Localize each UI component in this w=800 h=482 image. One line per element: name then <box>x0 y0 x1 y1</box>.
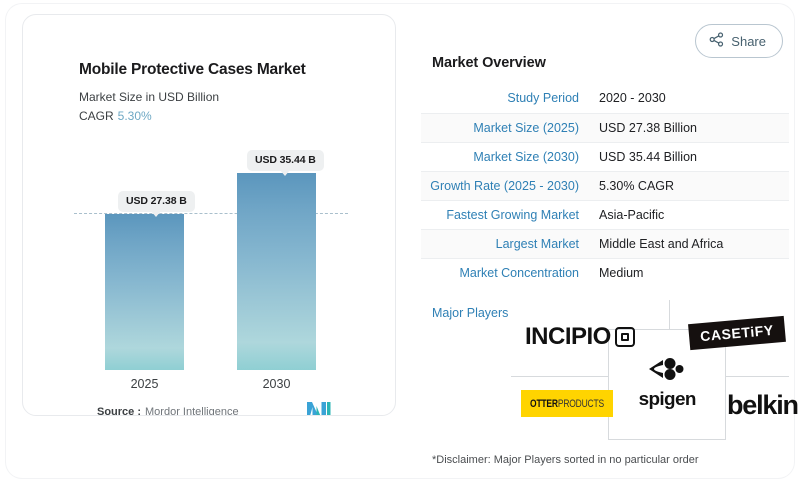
row-key: Largest Market <box>421 229 599 258</box>
mordor-intelligence-logo <box>307 402 331 416</box>
row-value: Middle East and Africa <box>599 229 789 258</box>
table-row: Market Size (2030) USD 35.44 Billion <box>421 142 789 171</box>
x-axis-tick-2025: 2025 <box>105 377 184 391</box>
row-key: Market Concentration <box>421 258 599 287</box>
otter-bold-text: OTTER <box>530 396 558 410</box>
row-value: USD 27.38 Billion <box>599 113 789 142</box>
spigen-logo: spigen <box>619 348 715 416</box>
row-key: Growth Rate (2025 - 2030) <box>421 171 599 200</box>
overview-title: Market Overview <box>432 55 546 71</box>
screenshot-root: Mobile Protective Cases Market Market Si… <box>0 0 800 482</box>
spigen-logo-text: spigen <box>638 390 695 408</box>
row-key: Study Period <box>421 84 599 113</box>
row-key: Fastest Growing Market <box>421 200 599 229</box>
bar-2030[interactable] <box>237 173 316 370</box>
bar-label-2025: USD 27.38 B <box>118 191 195 212</box>
market-overview-panel: Share Market Overview Study Period 2020 … <box>421 14 789 476</box>
x-axis-tick-2030: 2030 <box>237 377 316 391</box>
table-row: Fastest Growing Market Asia-Pacific <box>421 200 789 229</box>
bar-2025[interactable] <box>105 214 184 370</box>
incipio-mark-icon <box>615 327 635 347</box>
table-row: Market Size (2025) USD 27.38 Billion <box>421 113 789 142</box>
table-row: Growth Rate (2025 - 2030) 5.30% CAGR <box>421 171 789 200</box>
otter-products-logo-text: OTTERPRODUCTS <box>530 398 604 409</box>
source-value: Mordor Intelligence <box>145 406 239 416</box>
bar-label-2030: USD 35.44 B <box>247 150 324 171</box>
row-key: Market Size (2030) <box>421 142 599 171</box>
casetify-logo-text: CASETiFY <box>700 323 775 343</box>
major-players-label: Major Players <box>432 306 508 320</box>
share-icon <box>709 32 724 50</box>
source-label: Source : <box>97 406 141 416</box>
incipio-logo-text: INCIPIO <box>525 325 611 349</box>
casetify-logo: CASETiFY <box>688 316 786 350</box>
belkin-logo: belkin <box>727 388 800 422</box>
table-row: Study Period 2020 - 2030 <box>421 84 789 113</box>
otter-thin-text: PRODUCTS <box>558 396 604 410</box>
otter-products-logo: OTTERPRODUCTS <box>521 390 613 417</box>
table-row: Largest Market Middle East and Africa <box>421 229 789 258</box>
page-container: Mobile Protective Cases Market Market Si… <box>6 4 794 478</box>
row-value: 5.30% CAGR <box>599 171 789 200</box>
row-value: USD 35.44 Billion <box>599 142 789 171</box>
spigen-mark-icon <box>645 356 689 387</box>
row-value: 2020 - 2030 <box>599 84 789 113</box>
chart-card: Mobile Protective Cases Market Market Si… <box>22 14 396 416</box>
disclaimer-text: *Disclaimer: Major Players sorted in no … <box>432 454 699 466</box>
share-button-label: Share <box>731 34 766 49</box>
row-value: Medium <box>599 258 789 287</box>
table-row: Market Concentration Medium <box>421 258 789 287</box>
source-row: Source :Mordor Intelligence <box>97 406 239 416</box>
belkin-logo-text: belkin <box>727 392 798 419</box>
market-overview-table: Study Period 2020 - 2030 Market Size (20… <box>421 84 789 287</box>
row-key: Market Size (2025) <box>421 113 599 142</box>
major-players-logo-grid: INCIPIO CASETiFY OTTERPRODUCTS <box>511 300 789 440</box>
row-value: Asia-Pacific <box>599 200 789 229</box>
bar-chart-plot: USD 27.38 B USD 35.44 B 2025 2030 <box>23 15 396 416</box>
share-button[interactable]: Share <box>695 24 783 58</box>
